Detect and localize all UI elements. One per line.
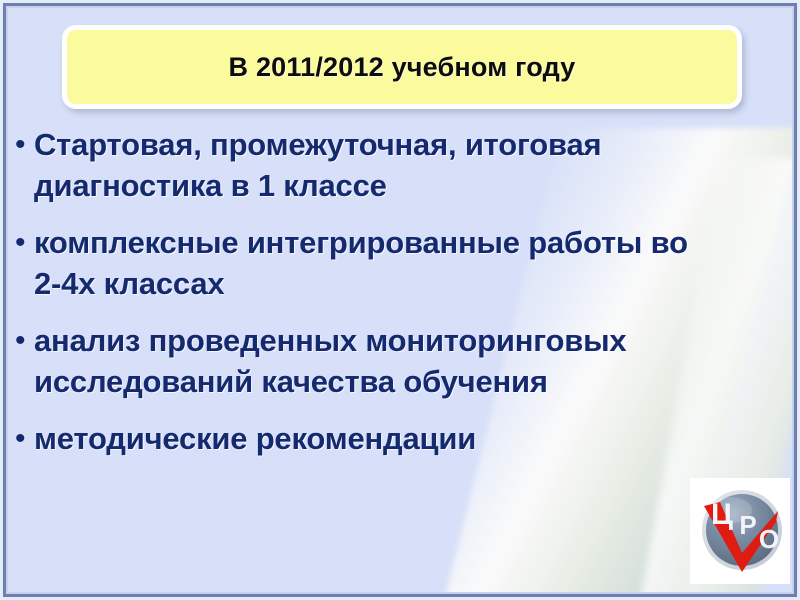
logo-letter-o: О bbox=[759, 524, 779, 554]
tsro-logo: Ц Р О bbox=[690, 478, 790, 584]
slide-canvas: В 2011/2012 учебном году • Стартовая, пр… bbox=[0, 0, 800, 600]
bullet-text-4: методические рекомендации bbox=[34, 418, 702, 459]
title-box: В 2011/2012 учебном году bbox=[62, 25, 742, 109]
bullet-list: • Стартовая, промежуточная, итоговая диа… bbox=[12, 124, 702, 475]
bullet-item-4: • методические рекомендации bbox=[12, 418, 702, 459]
bullet-point-icon: • bbox=[12, 320, 34, 361]
bullet-point-icon: • bbox=[12, 124, 34, 165]
bullet-point-icon: • bbox=[12, 418, 34, 459]
logo-letter-ts: Ц bbox=[711, 498, 733, 531]
bullet-item-3: • анализ проведенных мониторинговых иссл… bbox=[12, 320, 702, 402]
bullet-item-1: • Стартовая, промежуточная, итоговая диа… bbox=[12, 124, 702, 206]
bullet-text-2: комплексные интегрированные работы во 2-… bbox=[34, 222, 702, 304]
tsro-logo-graphic: Ц Р О bbox=[690, 478, 790, 584]
logo-letter-r: Р bbox=[739, 510, 756, 540]
bullet-text-3: анализ проведенных мониторинговых исслед… bbox=[34, 320, 702, 402]
slide-title: В 2011/2012 учебном году bbox=[229, 52, 576, 83]
bullet-item-2: • комплексные интегрированные работы во … bbox=[12, 222, 702, 304]
bullet-text-1: Стартовая, промежуточная, итоговая диагн… bbox=[34, 124, 702, 206]
bullet-point-icon: • bbox=[12, 222, 34, 263]
